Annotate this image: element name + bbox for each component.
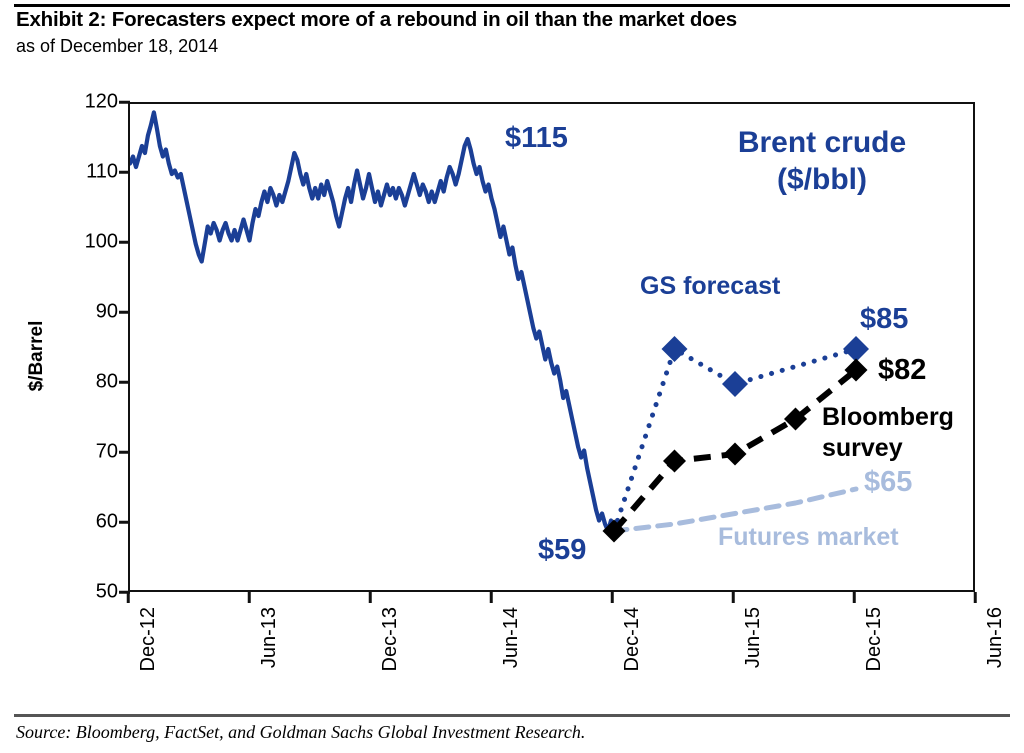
bloomberg-label-line-2: survey <box>822 433 982 464</box>
x-tick-mark <box>732 592 735 603</box>
x-tick-mark <box>853 592 856 603</box>
page-title: Exhibit 2: Forecasters expect more of a … <box>16 8 1006 32</box>
x-tick-mark <box>611 592 614 603</box>
header-top-rule <box>14 4 1010 7</box>
x-tick-mark <box>369 592 372 603</box>
series-title-line-1: Brent crude <box>714 124 930 161</box>
x-tick-label: Dec-15 <box>863 607 886 671</box>
y-tick-label: 70 <box>62 441 118 464</box>
x-tick-label: Dec-13 <box>379 607 402 671</box>
data-point-marker <box>662 336 688 362</box>
y-tick-label: 50 <box>62 581 118 604</box>
annotation-futures-label: Futures market <box>718 523 899 552</box>
annotation-series-title: Brent crude ($/bbl) <box>714 124 930 198</box>
y-tick-mark <box>119 101 130 104</box>
data-point-marker <box>843 336 869 362</box>
y-axis-title: $/Barrel <box>26 271 48 441</box>
y-tick-label: 120 <box>62 91 118 114</box>
x-tick-mark <box>974 592 977 603</box>
annotation-trough-price: $59 <box>538 534 586 567</box>
annotation-bloomberg-label: Bloomberg survey <box>822 402 982 463</box>
x-tick-mark <box>490 592 493 603</box>
x-tick-label: Jun-13 <box>258 607 281 668</box>
data-point-marker <box>663 450 686 473</box>
annotation-futures-end-price: $65 <box>864 466 912 499</box>
y-tick-mark <box>119 521 130 524</box>
y-tick-mark <box>119 381 130 384</box>
source-note: Source: Bloomberg, FactSet, and Goldman … <box>16 722 585 743</box>
data-point-marker <box>722 371 748 397</box>
y-tick-label: 90 <box>62 301 118 324</box>
x-tick-label: Dec-12 <box>137 607 160 671</box>
y-tick-label: 80 <box>62 371 118 394</box>
y-tick-mark <box>119 451 130 454</box>
annotation-bloomberg-end-price: $82 <box>878 354 926 387</box>
footer-rule <box>14 714 1010 717</box>
annotation-gs-end-price: $85 <box>860 303 908 336</box>
x-tick-label: Jun-15 <box>742 607 765 668</box>
annotation-peak-price: $115 <box>505 122 568 155</box>
y-tick-mark <box>119 241 130 244</box>
y-tick-label: 110 <box>62 161 118 184</box>
x-tick-label: Jun-14 <box>500 607 523 668</box>
x-tick-label: Jun-16 <box>984 607 1007 668</box>
bloomberg-label-line-1: Bloomberg <box>822 402 982 433</box>
x-tick-label: Dec-14 <box>621 607 644 671</box>
annotation-gs-forecast-label: GS forecast <box>640 272 780 301</box>
markers-gs-forecast <box>662 336 870 397</box>
data-point-marker <box>724 443 747 466</box>
series-title-line-2: ($/bbl) <box>714 161 930 198</box>
page-subtitle: as of December 18, 2014 <box>16 36 218 57</box>
x-tick-mark <box>127 592 130 603</box>
y-tick-mark <box>119 171 130 174</box>
x-tick-mark <box>248 592 251 603</box>
series-brent-crude <box>130 112 614 531</box>
y-tick-label: 100 <box>62 231 118 254</box>
y-tick-label: 60 <box>62 511 118 534</box>
y-tick-mark <box>119 311 130 314</box>
